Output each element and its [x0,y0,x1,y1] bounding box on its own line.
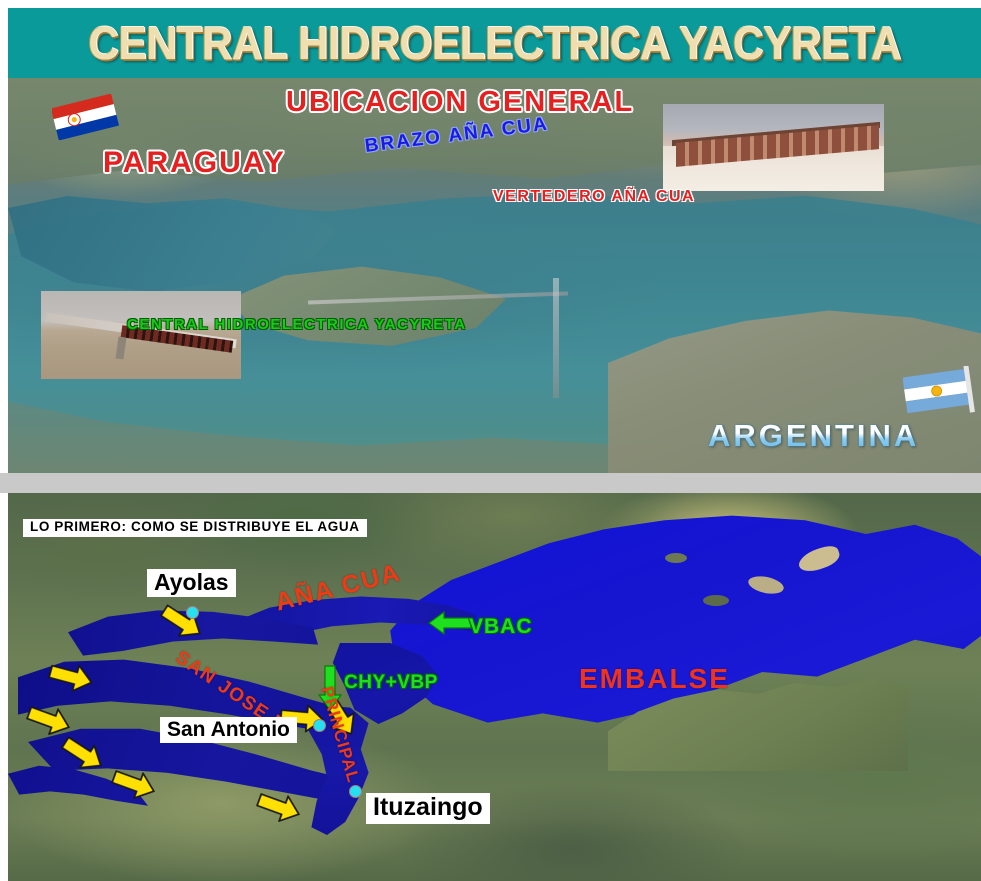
label-paraguay: PARAGUAY [103,146,286,180]
paraguay-flag [52,94,122,140]
dam-spillway-line [553,278,559,398]
city-label-ituzaingo: Ituzaingo [366,793,490,824]
slide-title-bar: CENTRAL HIDROELECTRICA YACYRETA [8,8,981,78]
reservoir-island-4 [665,553,687,563]
page-title: CENTRAL HIDROELECTRICA YACYRETA [88,16,901,70]
argentina-flag [903,366,981,420]
city-label-ayolas: Ayolas [147,569,236,597]
label-central-hidroelectrica-yacyreta: CENTRAL HIDROELECTRICA YACYRETA [127,316,467,333]
reservoir-island-3 [703,595,729,606]
label-embalse: EMBALSE [579,663,730,695]
panel-divider [0,473,981,493]
central-hidroelectrica-photo [41,291,241,379]
lower-map-panel: AÑA CUA SAN JOSE MI PRINCIPAL EMBALSE VB… [8,493,981,881]
city-dot-ayolas [186,606,199,619]
label-vertedero-ana-cua: VERTEDERO AÑA CUA [493,188,695,206]
lower-map-caption: LO PRIMERO: COMO SE DISTRIBUYE EL AGUA [23,519,367,537]
slide-root: CENTRAL HIDROELECTRICA YACYRETA [0,0,981,881]
label-chy-vbp: CHY+VBP [344,672,438,694]
city-label-san-antonio: San Antonio [160,717,297,743]
powerhouse-pier [116,336,127,359]
upper-map-heading: UBICACION GENERAL [286,86,634,119]
label-argentina: ARGENTINA [708,418,919,454]
vertedero-ana-cua-photo [663,104,884,191]
left-arrow-icon [428,611,472,635]
label-vbac: VBAC [469,615,533,639]
city-dot-san-antonio [313,719,326,732]
city-dot-ituzaingo [349,785,362,798]
upper-map-panel: UBICACION GENERAL PARAGUAY BRAZO AÑA CUA… [8,78,981,473]
